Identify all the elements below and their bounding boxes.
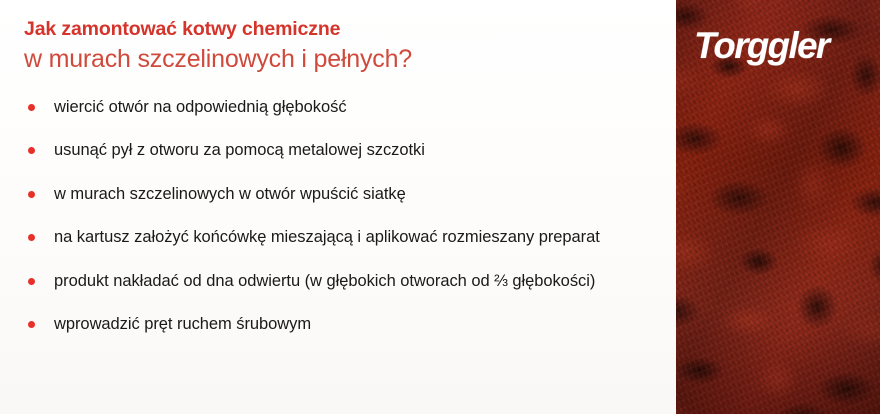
bullet-dot-icon xyxy=(28,278,35,285)
list-item: wiercić otwór na odpowiednią głębokość xyxy=(24,96,654,119)
slide-root: Jak zamontować kotwy chemiczne w murach … xyxy=(0,0,880,414)
brand-panel: Torggler xyxy=(676,0,880,414)
instruction-list: wiercić otwór na odpowiednią głębokość u… xyxy=(24,96,654,337)
list-item: wprowadzić pręt ruchem śrubowym xyxy=(24,313,654,336)
bullet-dot-icon xyxy=(28,234,35,241)
list-item: usunąć pył z otworu za pomocą metalowej … xyxy=(24,139,654,162)
bullet-dot-icon xyxy=(28,321,35,328)
list-item-label: na kartusz założyć końcówkę mieszającą i… xyxy=(54,226,654,249)
bullet-dot-icon xyxy=(28,191,35,198)
torggler-logo: Torggler xyxy=(694,21,872,69)
bullet-dot-icon xyxy=(28,104,35,111)
list-item-label: wiercić otwór na odpowiednią głębokość xyxy=(54,96,654,119)
list-item-label: produkt nakładać od dna odwiertu (w głęb… xyxy=(54,270,654,293)
bullet-dot-icon xyxy=(28,147,35,154)
heading-block: Jak zamontować kotwy chemiczne w murach … xyxy=(24,18,654,75)
list-item-label: wprowadzić pręt ruchem śrubowym xyxy=(54,313,654,336)
list-item: w murach szczelinowych w otwór wpuścić s… xyxy=(24,183,654,206)
list-item: na kartusz założyć końcówkę mieszającą i… xyxy=(24,226,654,249)
list-item-label: w murach szczelinowych w otwór wpuścić s… xyxy=(54,183,654,206)
content-panel: Jak zamontować kotwy chemiczne w murach … xyxy=(0,0,676,414)
list-item-label: usunąć pył z otworu za pomocą metalowej … xyxy=(54,139,654,162)
title-line-2: w murach szczelinowych i pełnych? xyxy=(24,45,654,75)
title-line-1: Jak zamontować kotwy chemiczne xyxy=(24,18,654,41)
list-item: produkt nakładać od dna odwiertu (w głęb… xyxy=(24,270,654,293)
torggler-logo-text: Torggler xyxy=(694,27,829,64)
